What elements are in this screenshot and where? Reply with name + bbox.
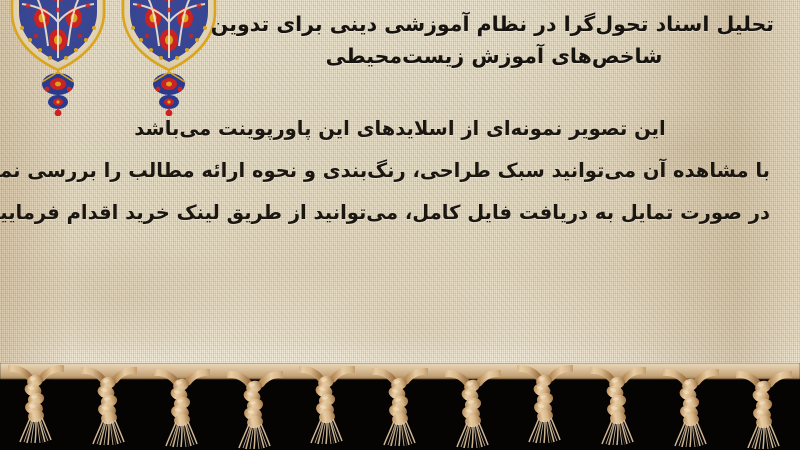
body-line-3: در صورت تمایل به دریافت فایل کامل، می‌تو… [30, 192, 770, 234]
tassel [154, 368, 210, 448]
tassel [736, 370, 792, 450]
tassel [663, 368, 719, 448]
tassel [517, 364, 573, 444]
tassel [8, 364, 64, 444]
slide-body: این تصویر نمونه‌ای از اسلایدهای این پاور… [30, 108, 770, 234]
carpet-tassel-fringe [0, 363, 800, 450]
tassel [299, 365, 355, 445]
tassel [445, 369, 501, 449]
title-line-2: شاخص‌های آموزش زیست‌محیطی [214, 40, 774, 72]
tassel [372, 367, 428, 447]
persian-medallion-icon [6, 0, 110, 120]
body-line-1: این تصویر نمونه‌ای از اسلایدهای این پاور… [30, 108, 770, 150]
slide-title: تحلیل اسناد تحول‌گرا در نظام آموزشی دینی… [214, 8, 774, 72]
persian-medallion-icon-2 [117, 0, 221, 120]
title-line-1: تحلیل اسناد تحول‌گرا در نظام آموزشی دینی… [214, 8, 774, 40]
tassel [590, 366, 646, 446]
body-line-2: با مشاهده آن می‌توانید سبک طراحی، رنگ‌بن… [30, 150, 770, 192]
slide-canvas: تحلیل اسناد تحول‌گرا در نظام آموزشی دینی… [0, 0, 800, 450]
tassel [227, 370, 283, 450]
tassel [81, 366, 137, 446]
